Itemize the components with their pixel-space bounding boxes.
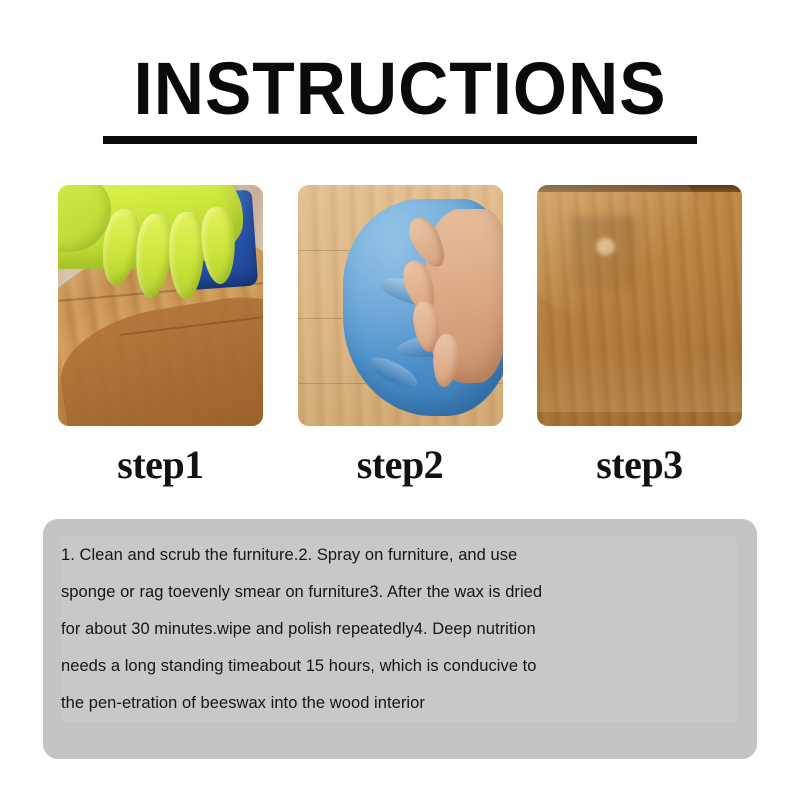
instruction-graphic: INSTRUCTIONS [0,0,800,800]
page-title-text: INSTRUCTIONS [24,52,776,126]
step2-caption: step2 [298,440,503,494]
description-line: the pen-etration of beeswax into the woo… [61,685,737,722]
title-underline-rule [103,136,697,144]
description-box: 1. Clean and scrub the furniture.2. Spra… [43,519,757,759]
step3-gloss [537,349,742,412]
step2-image [298,185,503,426]
page-title: INSTRUCTIONS [0,52,800,144]
description-line: sponge or rag toevenly smear on furnitur… [61,574,737,611]
step1-image [58,185,263,426]
step3-image [537,185,742,426]
step-caption-row: step1 step2 step3 [58,440,742,494]
description-line: needs a long standing timeabout 15 hours… [61,648,737,685]
description-line: for about 30 minutes.wipe and polish rep… [61,611,737,648]
step1-caption: step1 [58,440,263,494]
step3-caption: step3 [537,440,742,494]
step-image-row [58,185,742,426]
description-text: 1. Clean and scrub the furniture.2. Spra… [61,537,737,722]
description-line: 1. Clean and scrub the furniture.2. Spra… [61,537,737,574]
